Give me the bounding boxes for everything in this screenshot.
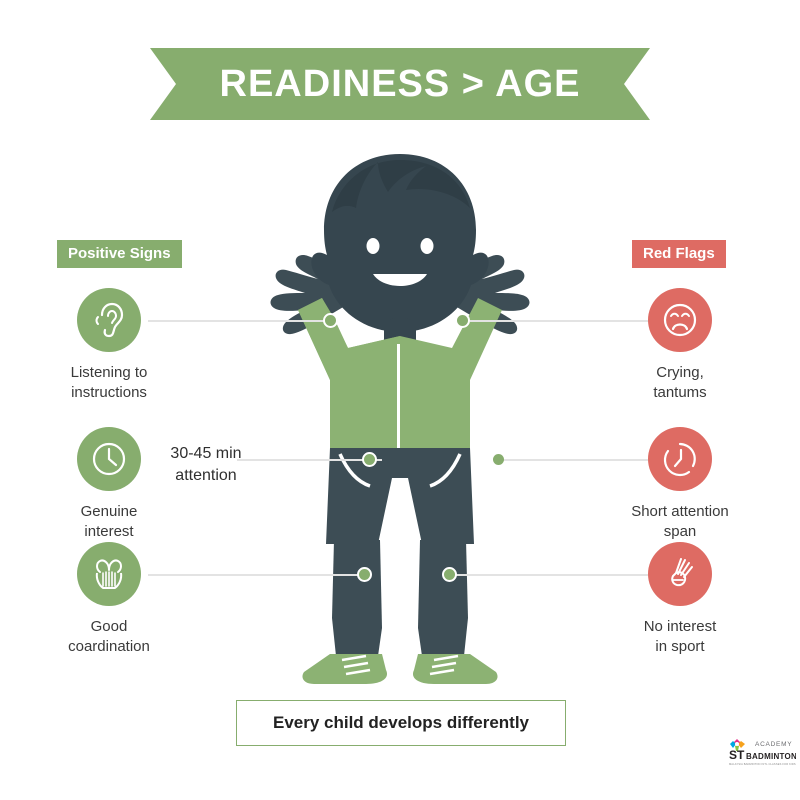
item-label-line1: Crying,: [656, 364, 704, 381]
hands-heart-icon-circle: [77, 542, 141, 606]
item-label: Crying, tantums: [600, 363, 760, 403]
node-left-knee: [357, 567, 372, 582]
note-line2: attention: [175, 467, 236, 484]
node-left-shoulder: [323, 313, 338, 328]
sad-face-icon: [660, 300, 700, 340]
item-label-line2: tantums: [653, 384, 706, 401]
banner-title: READINESS > AGE: [150, 48, 650, 120]
item-label: Short attention span: [600, 502, 760, 542]
node-right-knee: [442, 567, 457, 582]
title-banner: READINESS > AGE: [150, 48, 650, 120]
sad-face-icon-circle: [648, 288, 712, 352]
left-leg: [332, 540, 382, 656]
broken-clock-icon: [660, 439, 700, 479]
logo-tagline: MALAYSIA BADMINTON INTL CLASSES FOR KIDS: [729, 762, 796, 766]
child-illustration: [190, 148, 610, 688]
item-label-line1: Short attention: [631, 503, 729, 520]
item-label: Listening to instructions: [29, 363, 189, 403]
shirt-placket: [397, 344, 400, 450]
clock-icon: [89, 439, 129, 479]
left-eye: [367, 238, 380, 254]
item-label-line2: instructions: [71, 384, 147, 401]
item-label: Genuine interest: [29, 502, 189, 542]
right-leg: [418, 540, 468, 656]
badge-positive-signs: Positive Signs: [57, 240, 182, 268]
item-label-line1: Genuine: [81, 503, 138, 520]
item-listening-to-instructions: Listening to instructions: [29, 288, 189, 403]
ear-icon: [89, 300, 129, 340]
item-label-line2: in sport: [655, 638, 704, 655]
shuttlecock-icon: [660, 554, 700, 594]
node-attention-dot: [493, 454, 504, 465]
footer-caption-text: Every child develops differently: [273, 713, 529, 733]
note-line1: 30-45 min: [170, 445, 241, 462]
item-crying-tantrums: Crying, tantums: [600, 288, 760, 403]
item-label-line1: No interest: [644, 618, 717, 635]
logo-academy-text: ACADEMY: [755, 741, 792, 748]
right-eye: [421, 238, 434, 254]
item-label: Good coardination: [29, 617, 189, 657]
item-label: No interest in sport: [600, 617, 760, 657]
ear-icon-circle: [77, 288, 141, 352]
st-badminton-academy-logo: ACADEMY ST BADMINTON MALAYSIA BADMINTON …: [726, 736, 796, 770]
logo-st-text: ST: [729, 748, 745, 762]
broken-clock-icon-circle: [648, 427, 712, 491]
shuttlecock-icon-circle: [648, 542, 712, 606]
right-shoe: [413, 654, 498, 684]
shorts: [326, 448, 474, 544]
infographic-canvas: READINESS > AGE: [0, 0, 800, 800]
item-label-line2: interest: [84, 523, 133, 540]
item-short-attention-span: Short attention span: [600, 427, 760, 542]
item-label-line2: span: [664, 523, 697, 540]
hands-heart-icon: [88, 553, 130, 595]
item-label-line2: coardination: [68, 638, 150, 655]
clock-icon-circle: [77, 427, 141, 491]
logo-badminton-text: BADMINTON: [746, 752, 796, 761]
item-label-line1: Listening to: [71, 364, 148, 381]
node-waist: [362, 452, 377, 467]
item-good-coordination: Good coardination: [29, 542, 189, 657]
item-no-interest-in-sport: No interest in sport: [600, 542, 760, 657]
item-label-line1: Good: [91, 618, 128, 635]
note-attention-duration: 30-45 min attention: [146, 443, 266, 486]
footer-caption: Every child develops differently: [236, 700, 566, 746]
node-right-shoulder: [455, 313, 470, 328]
badge-red-flags: Red Flags: [632, 240, 726, 268]
